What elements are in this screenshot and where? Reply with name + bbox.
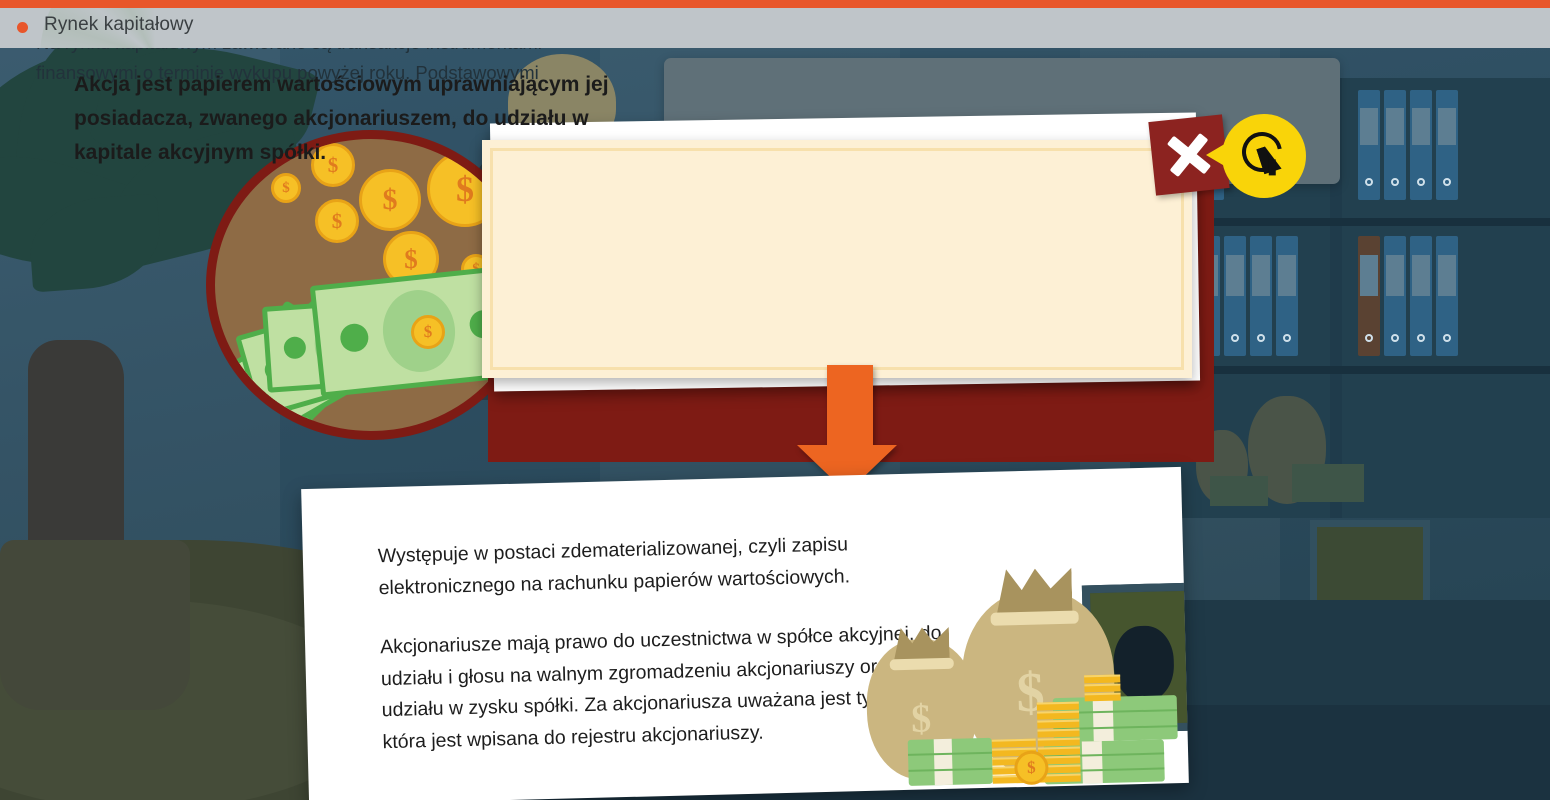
bag-tie: [890, 658, 954, 671]
coin-stack: [1037, 711, 1079, 720]
coin-stack: [1038, 738, 1080, 747]
coin-stack: [1037, 729, 1079, 738]
details-panel: $ $ $: [301, 467, 1189, 800]
binder-icon: [1436, 236, 1458, 356]
banknote-bundle: [908, 738, 993, 786]
coin-icon: $: [271, 173, 301, 203]
binder-icon: [1410, 90, 1432, 200]
binder-icon: [1358, 236, 1380, 356]
coin-stack: [1085, 693, 1121, 702]
binder-icon: [1410, 236, 1432, 356]
panel-inner-border: [490, 148, 1184, 370]
bullet-icon: [17, 22, 28, 33]
bag-tie: [990, 611, 1078, 626]
click-hint-bubble[interactable]: [1222, 114, 1306, 198]
shelf-bay: [1342, 374, 1550, 518]
slide-canvas: Rynek kapitałowy Na rynku kapitałowym za…: [0, 0, 1550, 800]
background-note-stack: [1210, 476, 1268, 506]
coin-stack: [1037, 702, 1079, 711]
money-illustration: $ $ $: [863, 533, 1189, 791]
dollar-symbol: $: [911, 694, 932, 741]
coin-stack: [1084, 684, 1120, 693]
coin-icon: $: [411, 315, 445, 349]
bag-neck: [995, 568, 1072, 616]
binder-icon: [1384, 90, 1406, 200]
binder-icon: [1250, 236, 1272, 356]
binder-icon: [1358, 90, 1380, 200]
definition-panel-text: Akcja jest papierem wartościowym uprawni…: [74, 68, 654, 170]
header-bar: [0, 8, 1550, 48]
definition-panel: [482, 140, 1192, 378]
palm-pot: [0, 540, 190, 710]
bag-neck: [893, 627, 950, 662]
money-bag-icon: [1113, 625, 1175, 702]
binder-icon: [1436, 90, 1458, 200]
background-note-stack: [1292, 464, 1364, 502]
binder-icon: [1384, 236, 1406, 356]
coin-stack: [992, 739, 1036, 748]
coin-stack: [1084, 675, 1120, 684]
coin-icon: $: [359, 169, 421, 231]
top-accent-stripe: [0, 0, 1550, 8]
coin-stack: [1037, 720, 1079, 729]
page-title: Rynek kapitałowy: [44, 14, 193, 36]
binder-icon: [1276, 236, 1298, 356]
binder-icon: [1224, 236, 1246, 356]
coin-stack: [1038, 747, 1080, 756]
